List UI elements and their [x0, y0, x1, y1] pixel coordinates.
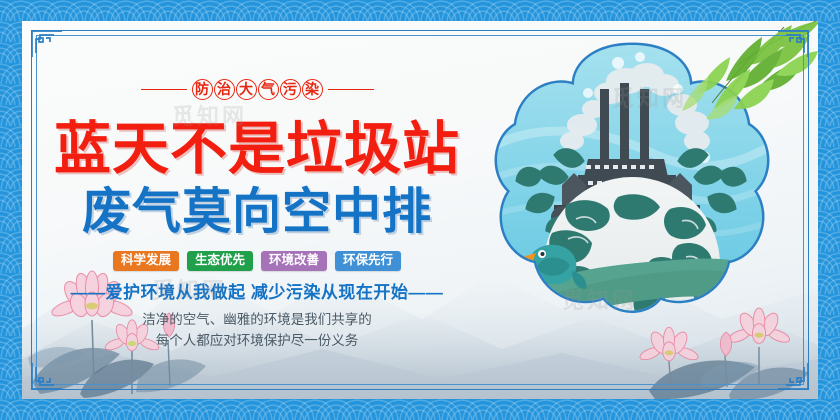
slogan-line: ——爱护环境从我做起 减少污染从现在开始—— [22, 278, 492, 303]
content-column: 防 治 大 气 污 染 蓝天不是垃圾站 废气莫向空中排 科学发展 生态优先 环境… [22, 21, 492, 399]
ribbon-char: 治 [214, 79, 235, 100]
poster-canvas: 防 治 大 气 污 染 蓝天不是垃圾站 废气莫向空中排 科学发展 生态优先 环境… [22, 21, 818, 399]
subtext-block: 洁净的空气、幽雅的环境是我们共享的 每个人都应对环境保护尽一份义务 [22, 309, 492, 351]
ribbon-char: 染 [302, 79, 323, 100]
ribbon-title: 防 治 大 气 污 染 [22, 79, 492, 100]
tag-item-2[interactable]: 环境改善 [261, 251, 327, 271]
ribbon-title-chars: 防 治 大 气 污 染 [192, 79, 323, 100]
ribbon-char: 污 [280, 79, 301, 100]
tag-list: 科学发展 生态优先 环境改善 环保先行 [22, 251, 492, 271]
bamboo-leaves-icon [634, 21, 818, 127]
ribbon-char: 气 [258, 79, 279, 100]
subtext-line-2: 每个人都应对环境保护尽一份义务 [22, 330, 492, 351]
subtext-line-1: 洁净的空气、幽雅的环境是我们共享的 [22, 309, 492, 330]
ribbon-line-right [328, 89, 374, 91]
tag-item-0[interactable]: 科学发展 [113, 251, 179, 271]
poster-background: 防 治 大 气 污 染 蓝天不是垃圾站 废气莫向空中排 科学发展 生态优先 环境… [0, 0, 840, 420]
ribbon-char: 大 [236, 79, 257, 100]
ribbon-line-left [141, 89, 187, 91]
tag-item-3[interactable]: 环保先行 [335, 251, 401, 271]
tag-item-1[interactable]: 生态优先 [187, 251, 253, 271]
ribbon-char: 防 [192, 79, 213, 100]
headline-line-1: 蓝天不是垃圾站 [22, 118, 492, 180]
headline-line-2: 废气莫向空中排 [22, 184, 492, 240]
